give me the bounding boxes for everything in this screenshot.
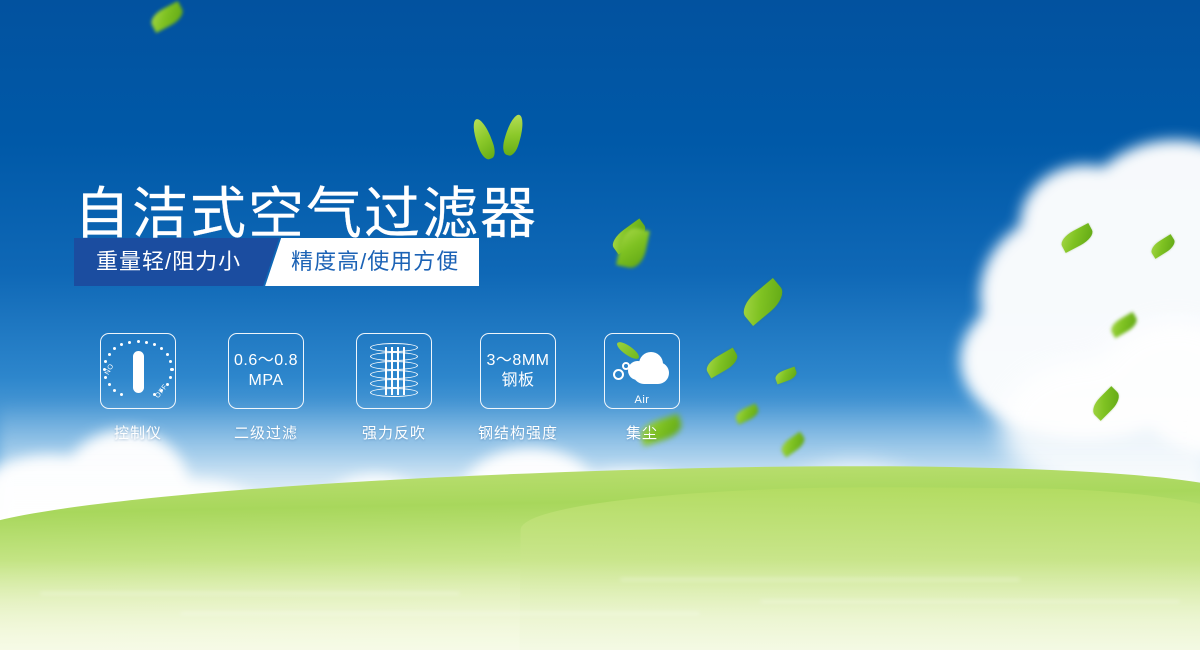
tagline-left: 重量轻/阻力小 [74, 238, 279, 286]
feature-list: NO OFF 控制仪 0.6～0.8 MPA 二级过滤 [74, 333, 706, 443]
pressure-line-2: MPA [234, 371, 298, 391]
pressure-line-1: 0.6～0.8 [234, 351, 298, 371]
tagline-bar: 重量轻/阻力小 精度高/使用方便 [74, 238, 479, 286]
feature-label: 钢结构强度 [478, 422, 558, 443]
steel-line-2: 钢板 [487, 371, 550, 391]
feature-icon-box: 3～8MM 钢板 [480, 333, 556, 409]
feature-label: 强力反吹 [362, 422, 426, 443]
dial-off-label: OFF [154, 383, 169, 400]
grass-highlight [0, 560, 1200, 650]
filter-coil-icon [370, 343, 418, 399]
steel-line-1: 3～8MM [487, 351, 550, 371]
pressure-value-icon: 0.6～0.8 MPA [234, 351, 298, 391]
product-banner: 自洁式空气过滤器 重量轻/阻力小 精度高/使用方便 [0, 0, 1200, 650]
feature-item-control-meter[interactable]: NO OFF 控制仪 [74, 333, 202, 443]
dial-gauge-icon: NO OFF [103, 336, 173, 406]
feature-label: 控制仪 [114, 422, 162, 443]
grass-streak [40, 592, 460, 595]
tagline-right: 精度高/使用方便 [265, 238, 479, 286]
grass-streak [620, 578, 1020, 581]
feature-item-strong-backblow[interactable]: 强力反吹 [330, 333, 458, 443]
feature-item-two-stage-filter[interactable]: 0.6～0.8 MPA 二级过滤 [202, 333, 330, 443]
grass-streak [760, 600, 1180, 603]
feature-icon-box [356, 333, 432, 409]
feature-label: 集尘 [626, 422, 658, 443]
feature-item-dust-collection[interactable]: Air 集尘 [578, 333, 706, 443]
grass-streak [180, 612, 700, 615]
feature-icon-box: NO OFF [100, 333, 176, 409]
feature-label: 二级过滤 [234, 422, 298, 443]
dust-cloud-icon: Air [613, 348, 671, 394]
dial-no-label: NO [104, 363, 116, 376]
feature-icon-box: Air [604, 333, 680, 409]
air-label: Air [613, 394, 671, 406]
title-sprout-leaves [472, 112, 542, 164]
page-title: 自洁式空气过滤器 [74, 184, 538, 246]
feature-item-steel-strength[interactable]: 3～8MM 钢板 钢结构强度 [458, 333, 578, 443]
feature-icon-box: 0.6～0.8 MPA [228, 333, 304, 409]
steel-plate-icon: 3～8MM 钢板 [487, 351, 550, 391]
